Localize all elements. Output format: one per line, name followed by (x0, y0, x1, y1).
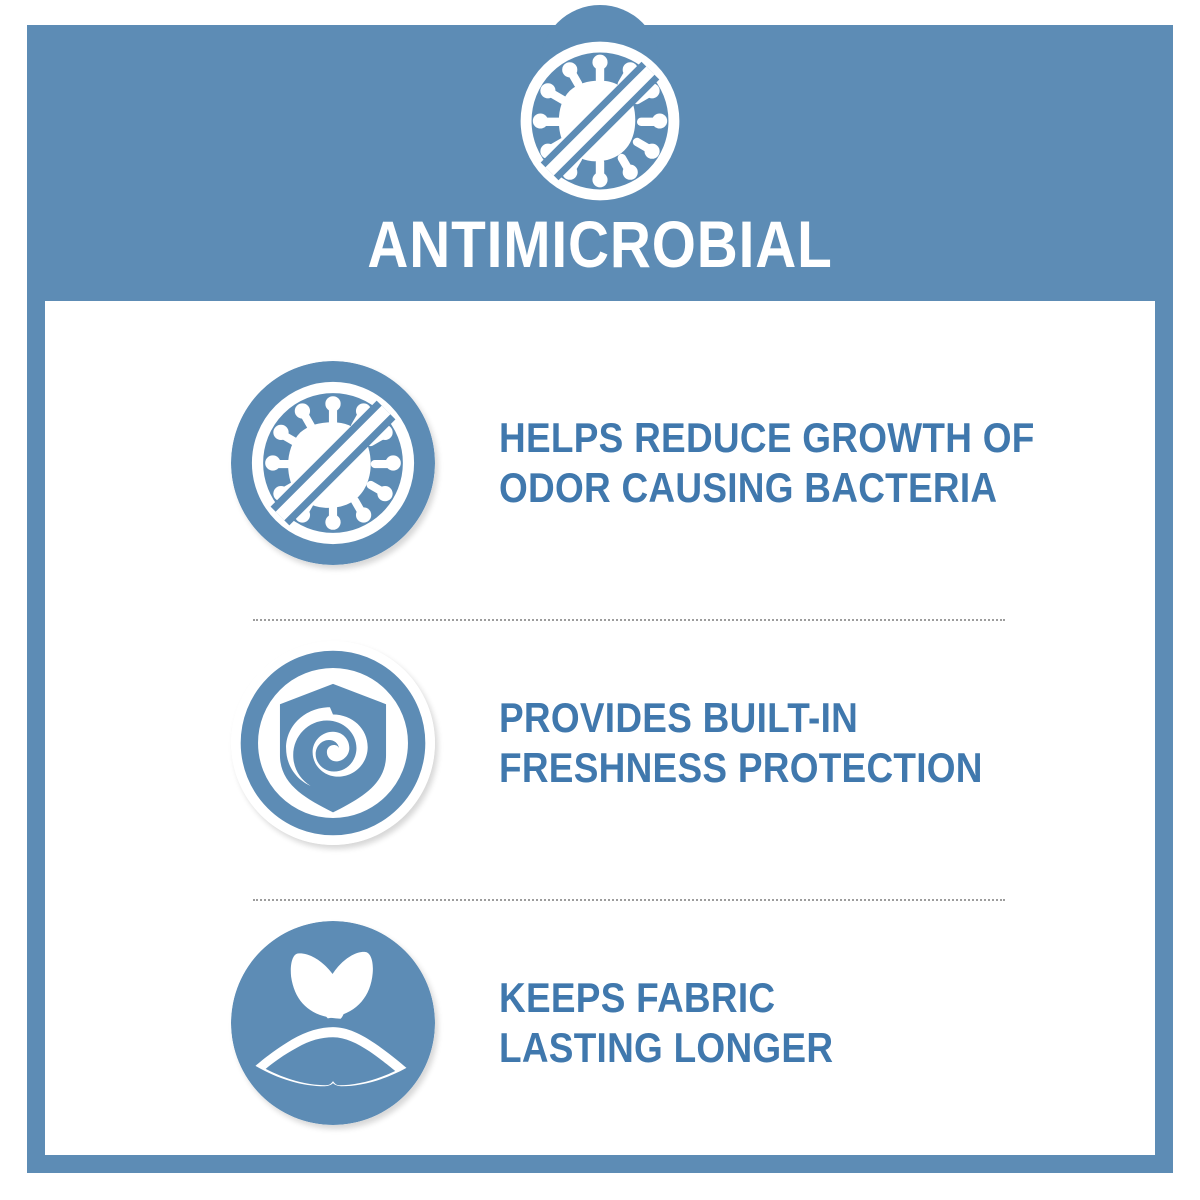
list-item: PROVIDES BUILT-IN FRESHNESS PROTECTION (45, 623, 1155, 863)
feature-label: HELPS REDUCE GROWTH OF ODOR CAUSING BACT… (499, 413, 1035, 513)
feature-label: PROVIDES BUILT-IN FRESHNESS PROTECTION (499, 693, 983, 793)
antimicrobial-infographic: ANTIMICROBIAL (0, 0, 1200, 1200)
header-banner: ANTIMICROBIAL (27, 25, 1173, 301)
features-panel: HELPS REDUCE GROWTH OF ODOR CAUSING BACT… (45, 301, 1155, 1155)
feature-label: KEEPS FABRIC LASTING LONGER (499, 973, 833, 1073)
page-title: ANTIMICROBIAL (107, 207, 1093, 281)
virus-blocked-icon (516, 37, 684, 205)
virus-blocked-icon (231, 361, 435, 565)
shield-swirl-icon (231, 641, 435, 845)
list-item: HELPS REDUCE GROWTH OF ODOR CAUSING BACT… (45, 343, 1155, 583)
list-item: KEEPS FABRIC LASTING LONGER (45, 903, 1155, 1143)
leaves-icon (231, 921, 435, 1125)
feature-list: HELPS REDUCE GROWTH OF ODOR CAUSING BACT… (45, 301, 1155, 1155)
infographic-card: ANTIMICROBIAL (27, 25, 1173, 1173)
